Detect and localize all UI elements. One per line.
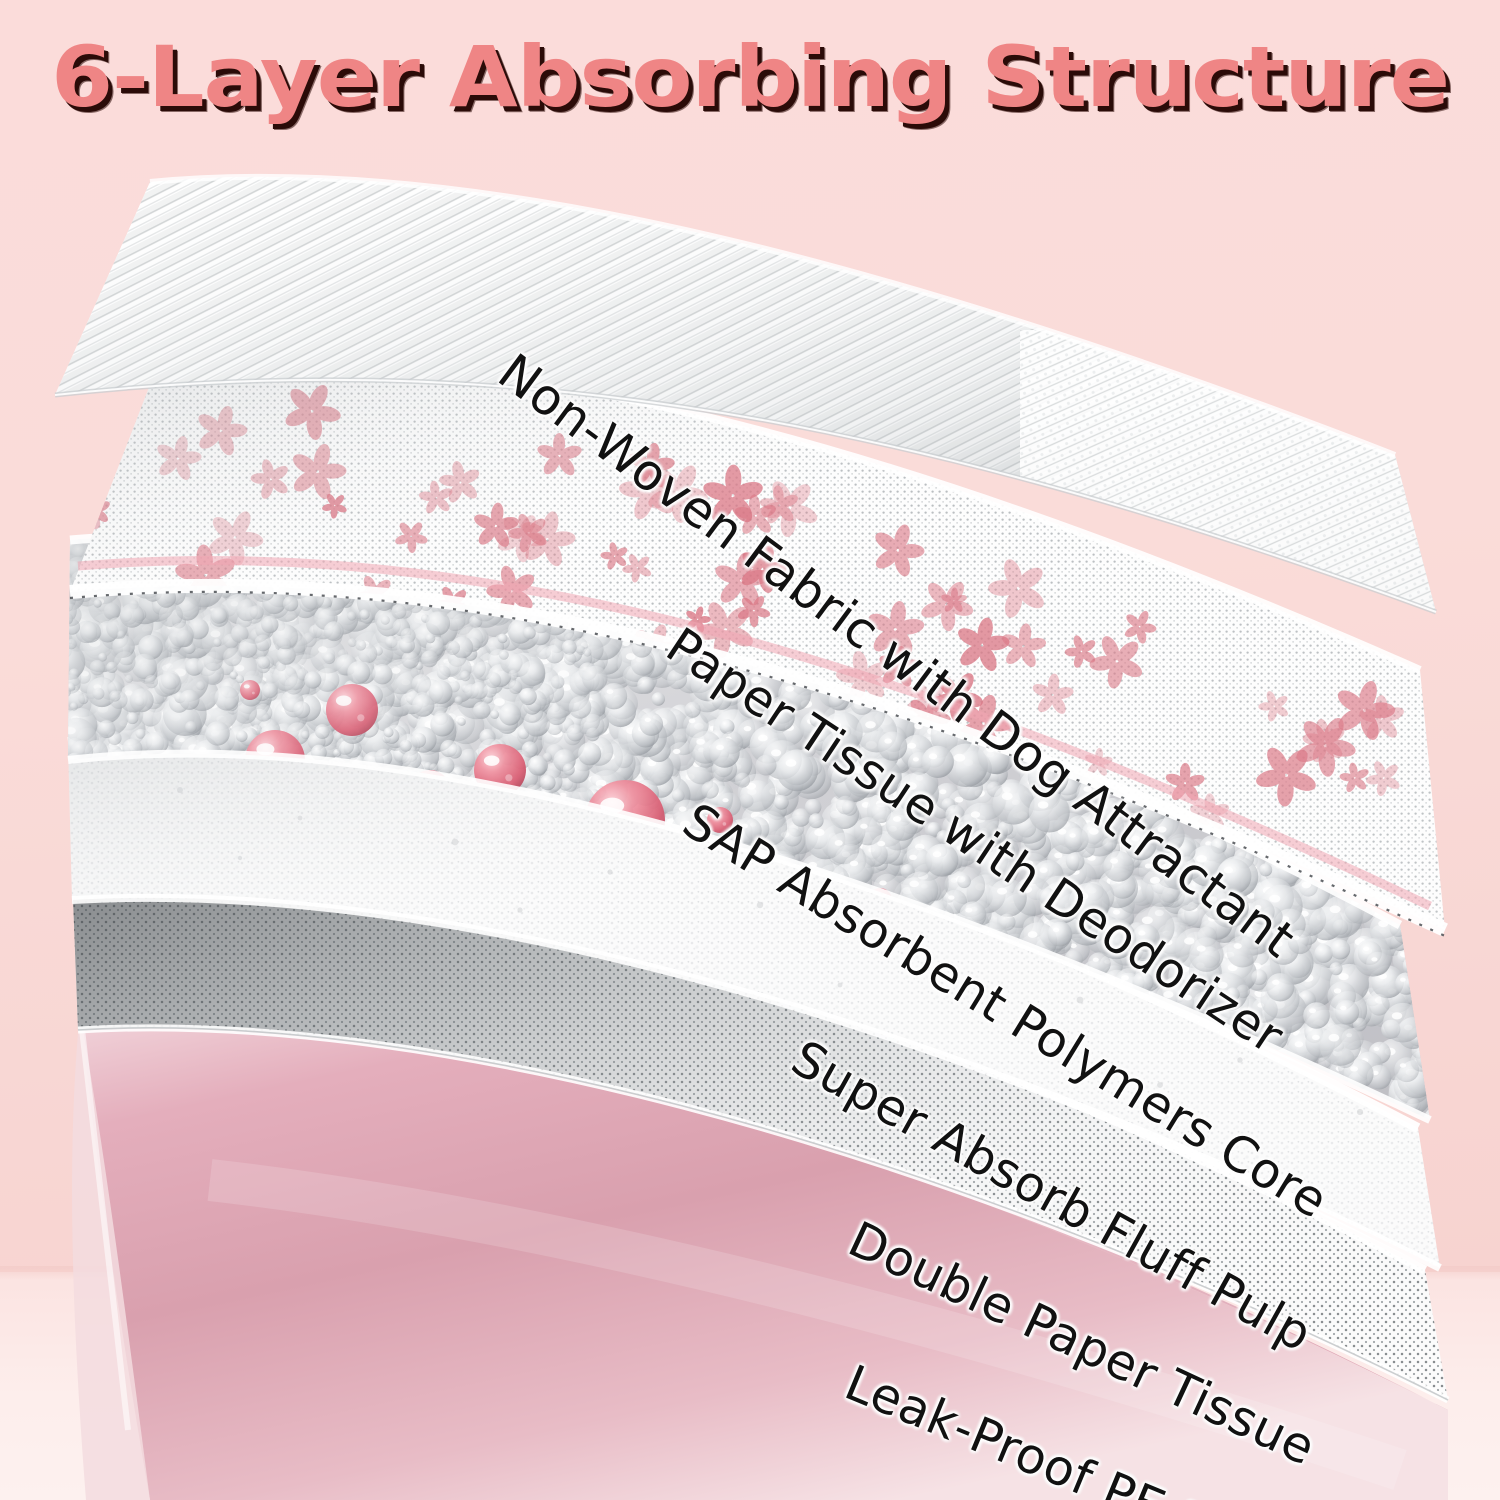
layer-stack-illustration [0,0,1500,1500]
product-infographic: 6-Layer Absorbing Structure [0,0,1500,1500]
